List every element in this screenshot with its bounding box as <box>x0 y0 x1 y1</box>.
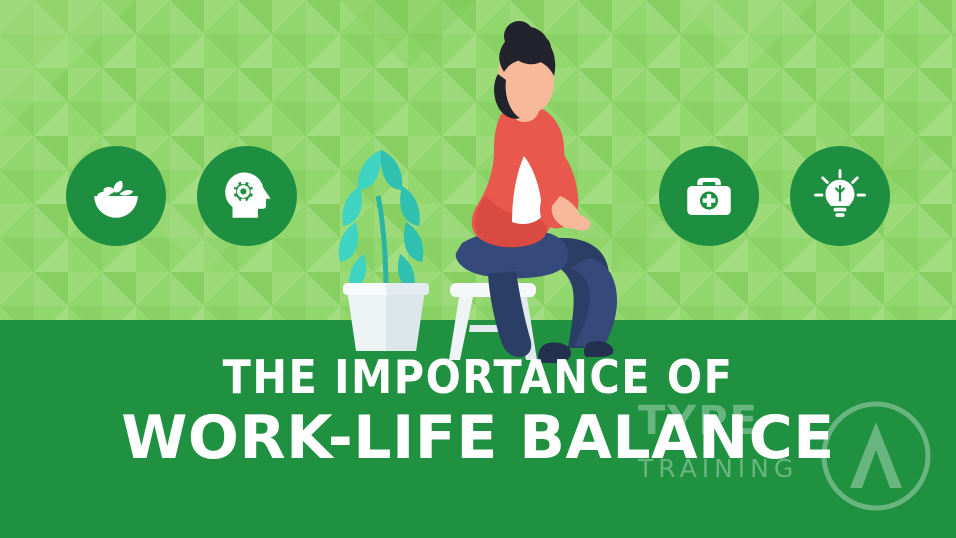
head-gear-glyph <box>218 167 276 225</box>
lightbulb-glyph <box>811 167 869 225</box>
lightbulb-icon <box>790 146 890 246</box>
title-line-2: WORK-LIFE BALANCE <box>0 408 956 468</box>
head-gear-icon <box>197 146 297 246</box>
poster-canvas: THE IMPORTANCE OF WORK-LIFE BALANCE TYPE… <box>0 0 956 538</box>
salad-bowl-glyph <box>87 167 145 225</box>
title-line-1: THE IMPORTANCE OF <box>0 354 956 400</box>
first-aid-kit-icon <box>659 146 759 246</box>
first-aid-kit-glyph <box>680 167 738 225</box>
poster-title: THE IMPORTANCE OF WORK-LIFE BALANCE <box>0 354 956 468</box>
salad-bowl-icon <box>66 146 166 246</box>
